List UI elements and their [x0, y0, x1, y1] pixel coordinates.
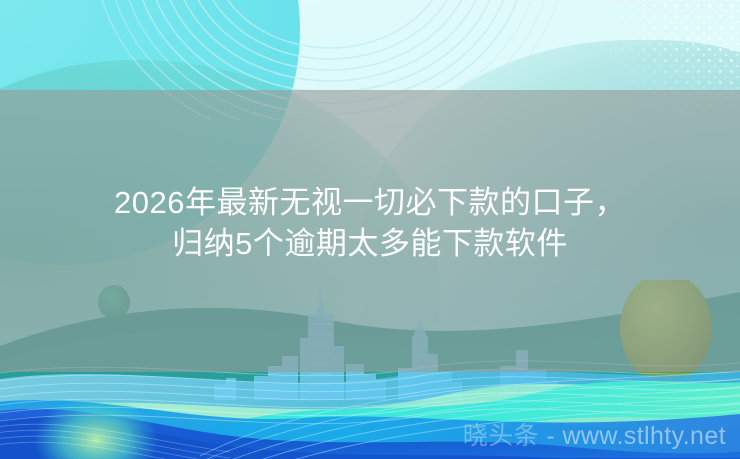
watermark-separator: -: [539, 422, 562, 450]
title-line-1: 2026年最新无视一切必下款的口子，: [0, 182, 740, 223]
title-line-2: 归纳5个逾期太多能下款软件: [0, 223, 740, 264]
poster-canvas: 2026年最新无视一切必下款的口子， 归纳5个逾期太多能下款软件 晓头条 - w…: [0, 0, 740, 459]
watermark-site-name: 晓头条: [463, 422, 539, 450]
page-title: 2026年最新无视一切必下款的口子， 归纳5个逾期太多能下款软件: [0, 182, 740, 264]
watermark-url: www.stlhty.net: [562, 422, 726, 450]
watermark: 晓头条 - www.stlhty.net: [0, 421, 726, 451]
